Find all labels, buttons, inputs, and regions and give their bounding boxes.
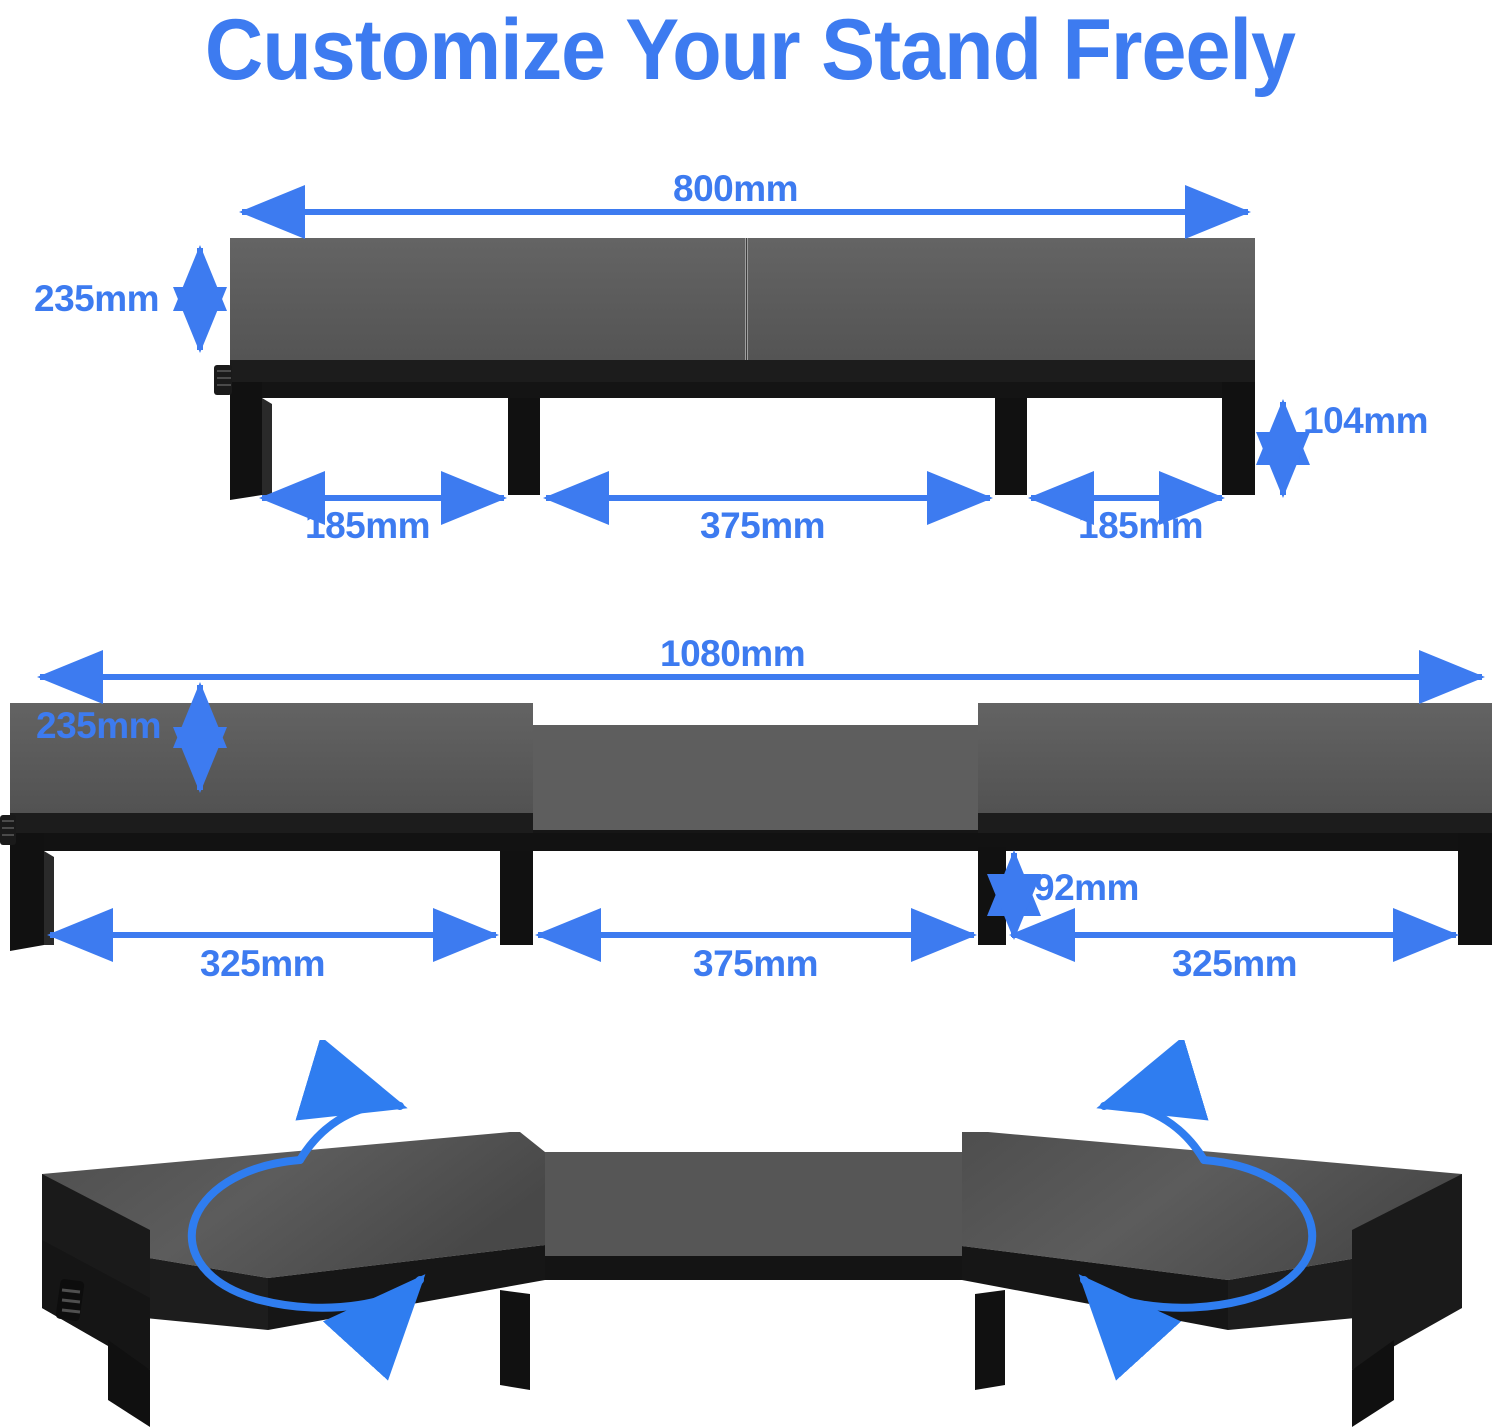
leg-right <box>1222 382 1255 495</box>
stand-body-perspective <box>42 1132 1462 1427</box>
dim-label-wing-right: 325mm <box>1172 943 1297 985</box>
dim-label-wing-left: 325mm <box>200 943 325 985</box>
perspective-deck-center <box>545 1152 962 1256</box>
figure-compact-configuration: 800mm 235mm 185mm 375mm 185mm 104mm <box>0 150 1500 570</box>
deck-wing-right <box>978 703 1492 813</box>
leg-center-right-extended <box>978 847 1006 945</box>
edge-wing-left <box>10 813 533 833</box>
perspective-front-center <box>545 1256 962 1280</box>
leg-left-inner-shadow-extended <box>44 851 54 945</box>
deck-left-panel <box>230 238 745 360</box>
usb-port-icon-extended <box>0 815 16 845</box>
dim-label-center-span: 375mm <box>693 943 818 985</box>
dim-label-total-width: 800mm <box>673 168 798 210</box>
leg-center-left <box>508 398 540 495</box>
dim-label-clearance: 104mm <box>1303 400 1428 442</box>
deck-center-stepped <box>533 725 978 830</box>
leg-center-left-extended <box>500 851 533 945</box>
dim-label-leg-gap-left: 185mm <box>305 505 430 547</box>
figure-extended-configuration: 1080mm 235mm 325mm 375mm 325mm 92mm <box>0 615 1500 1025</box>
perspective-leg-inner-left <box>500 1290 530 1390</box>
dim-label-total-width-extended: 1080mm <box>660 633 805 675</box>
leg-left-inner-shadow <box>262 398 272 495</box>
under-rail-extended <box>10 833 1492 851</box>
figure-rotation-perspective <box>0 1040 1500 1427</box>
deck-front-edge <box>230 360 1255 382</box>
stand-body-compact <box>214 238 1255 500</box>
edge-wing-right <box>978 813 1492 833</box>
usb-port-icon <box>214 365 232 395</box>
dim-label-depth-extended: 235mm <box>36 705 161 747</box>
dim-label-step-height: 92mm <box>1034 867 1139 909</box>
leg-center-right <box>995 398 1027 495</box>
dim-label-depth: 235mm <box>34 278 159 320</box>
perspective-leg-inner-right <box>975 1290 1005 1390</box>
leg-left <box>230 382 262 500</box>
under-rail <box>230 382 1255 398</box>
dim-label-leg-gap-right: 185mm <box>1078 505 1203 547</box>
deck-right-panel <box>748 238 1255 360</box>
dim-label-leg-gap-mid: 375mm <box>700 505 825 547</box>
page-title: Customize Your Stand Freely <box>45 2 1455 98</box>
product-dimension-infographic: Customize Your Stand Freely <box>0 0 1500 1427</box>
leg-left-extended <box>10 833 44 951</box>
stand-body-extended <box>0 703 1492 951</box>
leg-right-extended <box>1458 833 1492 945</box>
